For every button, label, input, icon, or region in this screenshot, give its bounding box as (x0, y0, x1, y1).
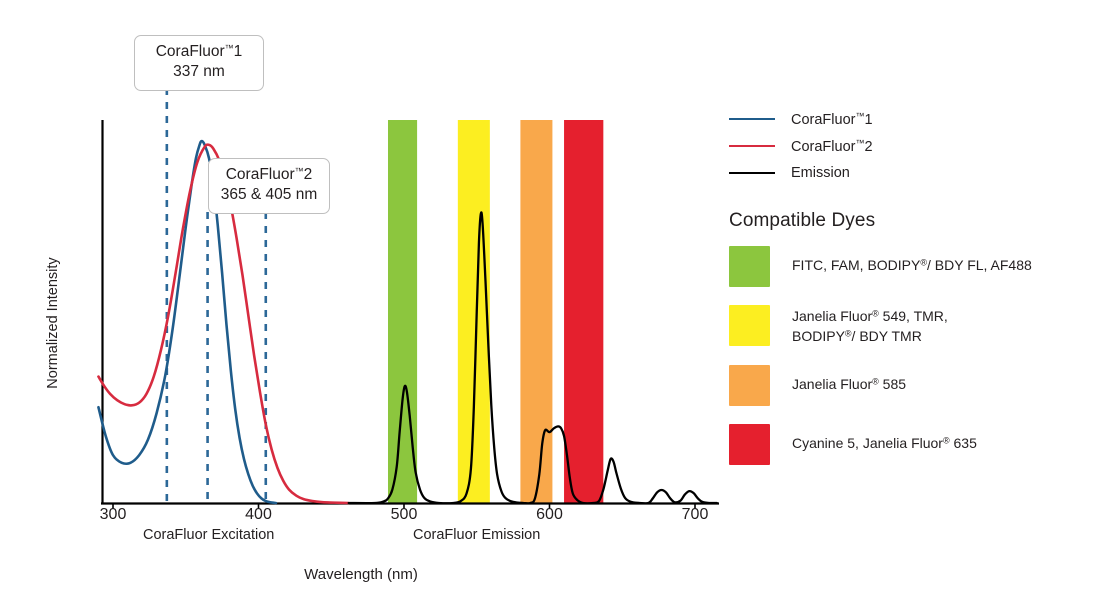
callout-corafluor1: CoraFluor™1 337 nm (134, 35, 264, 91)
dye-label: Janelia Fluor® 585 (792, 365, 906, 394)
dye-row-1: Janelia Fluor® 549, TMR,BODIPY®/ BDY TMR (729, 305, 1101, 347)
legend-line-swatch (729, 145, 775, 147)
dye-label-line: Janelia Fluor® 585 (792, 374, 906, 394)
registered-symbol: ® (920, 258, 927, 268)
compatible-dyes-list: FITC, FAM, BODIPY®/ BDY FL, AF488Janelia… (729, 246, 1101, 465)
dye-color-swatch (729, 365, 770, 406)
legend-row-0: CoraFluor™1 (729, 108, 1101, 130)
x-tick-label-700: 700 (665, 506, 725, 524)
legend-row-2: Emission (729, 162, 1101, 184)
dye-label: FITC, FAM, BODIPY®/ BDY FL, AF488 (792, 246, 1032, 275)
spectra-plot (0, 0, 740, 530)
dye-row-3: Cyanine 5, Janelia Fluor® 635 (729, 424, 1101, 465)
x-tick-label-500: 500 (374, 506, 434, 524)
red-band (564, 120, 603, 503)
trademark-symbol: ™ (855, 111, 864, 121)
registered-symbol: ® (872, 309, 879, 319)
yellow-band (458, 120, 490, 503)
trademark-symbol: ™ (855, 138, 864, 148)
dye-row-0: FITC, FAM, BODIPY®/ BDY FL, AF488 (729, 246, 1101, 287)
orange-band (520, 120, 552, 503)
y-axis-label: Normalized Intensity (45, 233, 61, 413)
fluorescence-spectra-figure: CoraFluor™1 337 nm CoraFluor™2 365 & 405… (0, 0, 1110, 612)
dye-label-line: BODIPY®/ BDY TMR (792, 326, 948, 346)
registered-symbol: ® (845, 329, 852, 339)
legend-panel: CoraFluor™1CoraFluor™2Emission Compatibl… (729, 108, 1101, 483)
dye-row-2: Janelia Fluor® 585 (729, 365, 1101, 406)
dye-label: Cyanine 5, Janelia Fluor® 635 (792, 424, 977, 453)
region-label-excitation: CoraFluor Excitation (143, 527, 274, 543)
registered-symbol: ® (943, 435, 950, 445)
region-label-emission: CoraFluor Emission (413, 527, 540, 543)
trademark-symbol: ™ (225, 43, 234, 53)
legend-label: Emission (791, 165, 850, 181)
legend-line-swatch (729, 172, 775, 174)
registered-symbol: ® (872, 376, 879, 386)
dye-label-line: Janelia Fluor® 549, TMR, (792, 306, 948, 326)
emission-band-group (388, 120, 603, 503)
dye-label-line: Cyanine 5, Janelia Fluor® 635 (792, 433, 977, 453)
dye-label: Janelia Fluor® 549, TMR,BODIPY®/ BDY TMR (792, 305, 948, 347)
trademark-symbol: ™ (295, 166, 304, 176)
legend-line-swatch (729, 118, 775, 120)
series-legend: CoraFluor™1CoraFluor™2Emission (729, 108, 1101, 184)
dye-color-swatch (729, 424, 770, 465)
legend-label: CoraFluor™2 (791, 138, 873, 155)
x-axis-label: Wavelength (nm) (0, 566, 722, 583)
compatible-dyes-title: Compatible Dyes (729, 210, 1101, 232)
dye-color-swatch (729, 246, 770, 287)
callout-corafluor2: CoraFluor™2 365 & 405 nm (208, 158, 330, 214)
callout1-line1: CoraFluor™1 (145, 42, 253, 62)
excitation-marker-lines (167, 88, 266, 503)
legend-row-1: CoraFluor™2 (729, 135, 1101, 157)
legend-label: CoraFluor™1 (791, 111, 873, 128)
x-tick-label-400: 400 (229, 506, 289, 524)
dye-label-line: FITC, FAM, BODIPY®/ BDY FL, AF488 (792, 255, 1032, 275)
callout2-line1: CoraFluor™2 (219, 165, 319, 185)
x-tick-label-300: 300 (83, 506, 143, 524)
dye-color-swatch (729, 305, 770, 346)
callout1-line2: 337 nm (145, 62, 253, 82)
callout2-line2: 365 & 405 nm (219, 185, 319, 205)
x-tick-label-600: 600 (520, 506, 580, 524)
